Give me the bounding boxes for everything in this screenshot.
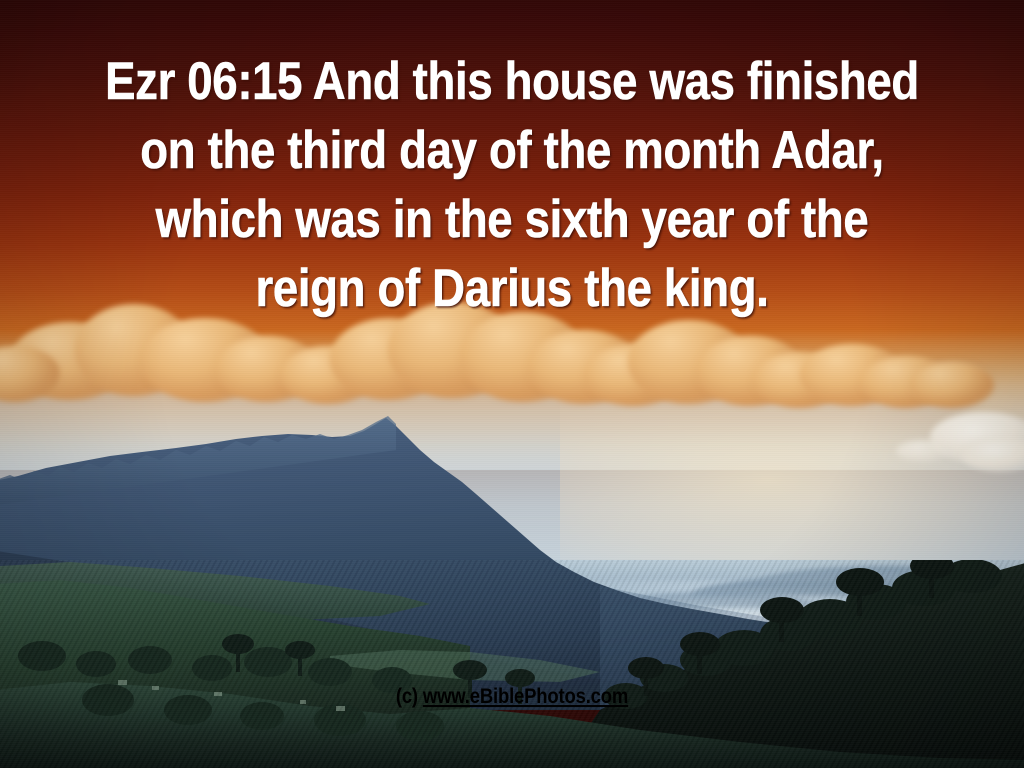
watermark-site-url: www.eBiblePhotos.com	[423, 685, 628, 708]
verse-text-block: Ezr 06:15 And this house was finished on…	[72, 47, 953, 323]
watermark-copyright-prefix: (c)	[396, 685, 423, 708]
verse-line-1: Ezr 06:15 And this house was finished	[72, 47, 953, 116]
scripture-photo-image: Ezr 06:15 And this house was finished on…	[0, 0, 1024, 768]
verse-line-3: which was in the sixth year of the	[72, 185, 953, 254]
copyright-watermark: (c) www.eBiblePhotos.com	[61, 686, 962, 708]
verse-line-4: reign of Darius the king.	[72, 254, 953, 323]
verse-line-2: on the third day of the month Adar,	[72, 116, 953, 185]
foreground-landscape	[0, 560, 1024, 768]
